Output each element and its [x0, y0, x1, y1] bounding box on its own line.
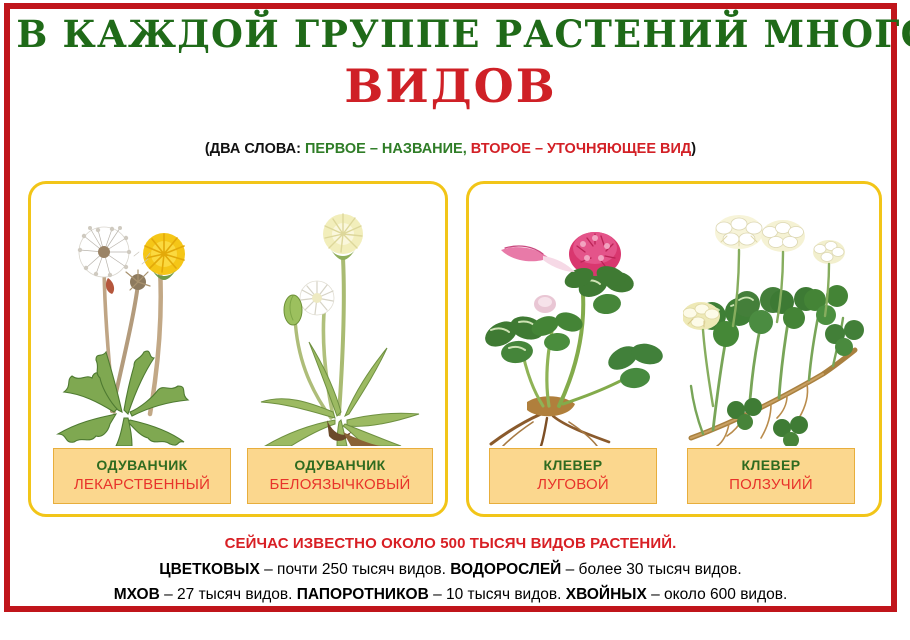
subtitle-red: ВТОРОЕ – УТОЧНЯЮЩЕЕ ВИД	[467, 141, 691, 157]
panel-clover-group: КЛЕВЕР ЛУГОВОЙ КЛЕВЕР ПОЛЗУЧИЙ	[466, 181, 882, 517]
subtitle-open: (ДВА СЛОВА:	[205, 141, 305, 157]
label-species: ПОЛЗУЧИЙ	[688, 475, 854, 495]
label-clover-pratense: КЛЕВЕР ЛУГОВОЙ	[489, 448, 657, 504]
illustration-dandelion-leucoglossum	[239, 184, 439, 446]
label-dandelion-officinale: ОДУВАНЧИК ЛЕКАРСТВЕННЫЙ	[53, 448, 231, 504]
footer-headline: СЕЙЧАС ИЗВЕСТНО ОКОЛО 500 ТЫСЯЧ ВИДОВ РА…	[12, 535, 889, 552]
label-species: ЛЕКАРСТВЕННЫЙ	[54, 475, 230, 495]
label-genus: КЛЕВЕР	[688, 456, 854, 475]
illustration-clover-pratense	[475, 184, 675, 446]
panel-dandelion-group: ОДУВАНЧИК ЛЕКАРСТВЕННЫЙ ОДУВАНЧИК БЕЛОЯЗ…	[28, 181, 448, 517]
subtitle: (ДВА СЛОВА: ПЕРВОЕ – НАЗВАНИЕ, ВТОРОЕ – …	[12, 141, 889, 157]
label-genus: ОДУВАНЧИК	[54, 456, 230, 475]
label-genus: КЛЕВЕР	[490, 456, 656, 475]
footer-run: ПАПОРОТНИКОВ	[297, 586, 429, 603]
slide-root: В КАЖДОЙ ГРУППЕ РАСТЕНИЙ МНОГО ВИДОВ (ДВ…	[0, 0, 910, 640]
title-block: В КАЖДОЙ ГРУППЕ РАСТЕНИЙ МНОГО ВИДОВ	[12, 12, 889, 112]
label-species: БЕЛОЯЗЫЧКОВЫЙ	[248, 475, 432, 495]
subtitle-close: )	[691, 141, 696, 157]
page-title-line2: ВИДОВ	[12, 60, 889, 112]
footer-run: ХВОЙНЫХ	[566, 586, 647, 603]
footer-run: ЦВЕТКОВЫХ	[159, 561, 260, 578]
illustration-dandelion-officinale	[37, 184, 237, 446]
page-title-line1: В КАЖДОЙ ГРУППЕ РАСТЕНИЙ МНОГО	[16, 12, 884, 56]
footer-line-2: МХОВ – 27 тысяч видов. ПАПОРОТНИКОВ – 10…	[12, 586, 889, 604]
footer-run: – почти 250 тысяч видов.	[260, 561, 450, 578]
footer-run: – более 30 тысяч видов.	[561, 561, 741, 578]
label-clover-repens: КЛЕВЕР ПОЛЗУЧИЙ	[687, 448, 855, 504]
subtitle-green: ПЕРВОЕ – НАЗВАНИЕ,	[305, 141, 467, 157]
footer-line-1: ЦВЕТКОВЫХ – почти 250 тысяч видов. ВОДОР…	[12, 561, 889, 579]
footer-run: – 10 тысяч видов.	[429, 586, 566, 603]
label-dandelion-leucoglossum: ОДУВАНЧИК БЕЛОЯЗЫЧКОВЫЙ	[247, 448, 433, 504]
footer-run: – 27 тысяч видов.	[160, 586, 297, 603]
label-genus: ОДУВАНЧИК	[248, 456, 432, 475]
footer-run: – около 600 видов.	[647, 586, 788, 603]
footer-run: ВОДОРОСЛЕЙ	[450, 561, 561, 578]
footer-run: МХОВ	[114, 586, 160, 603]
illustration-clover-repens	[675, 184, 875, 446]
label-species: ЛУГОВОЙ	[490, 475, 656, 495]
